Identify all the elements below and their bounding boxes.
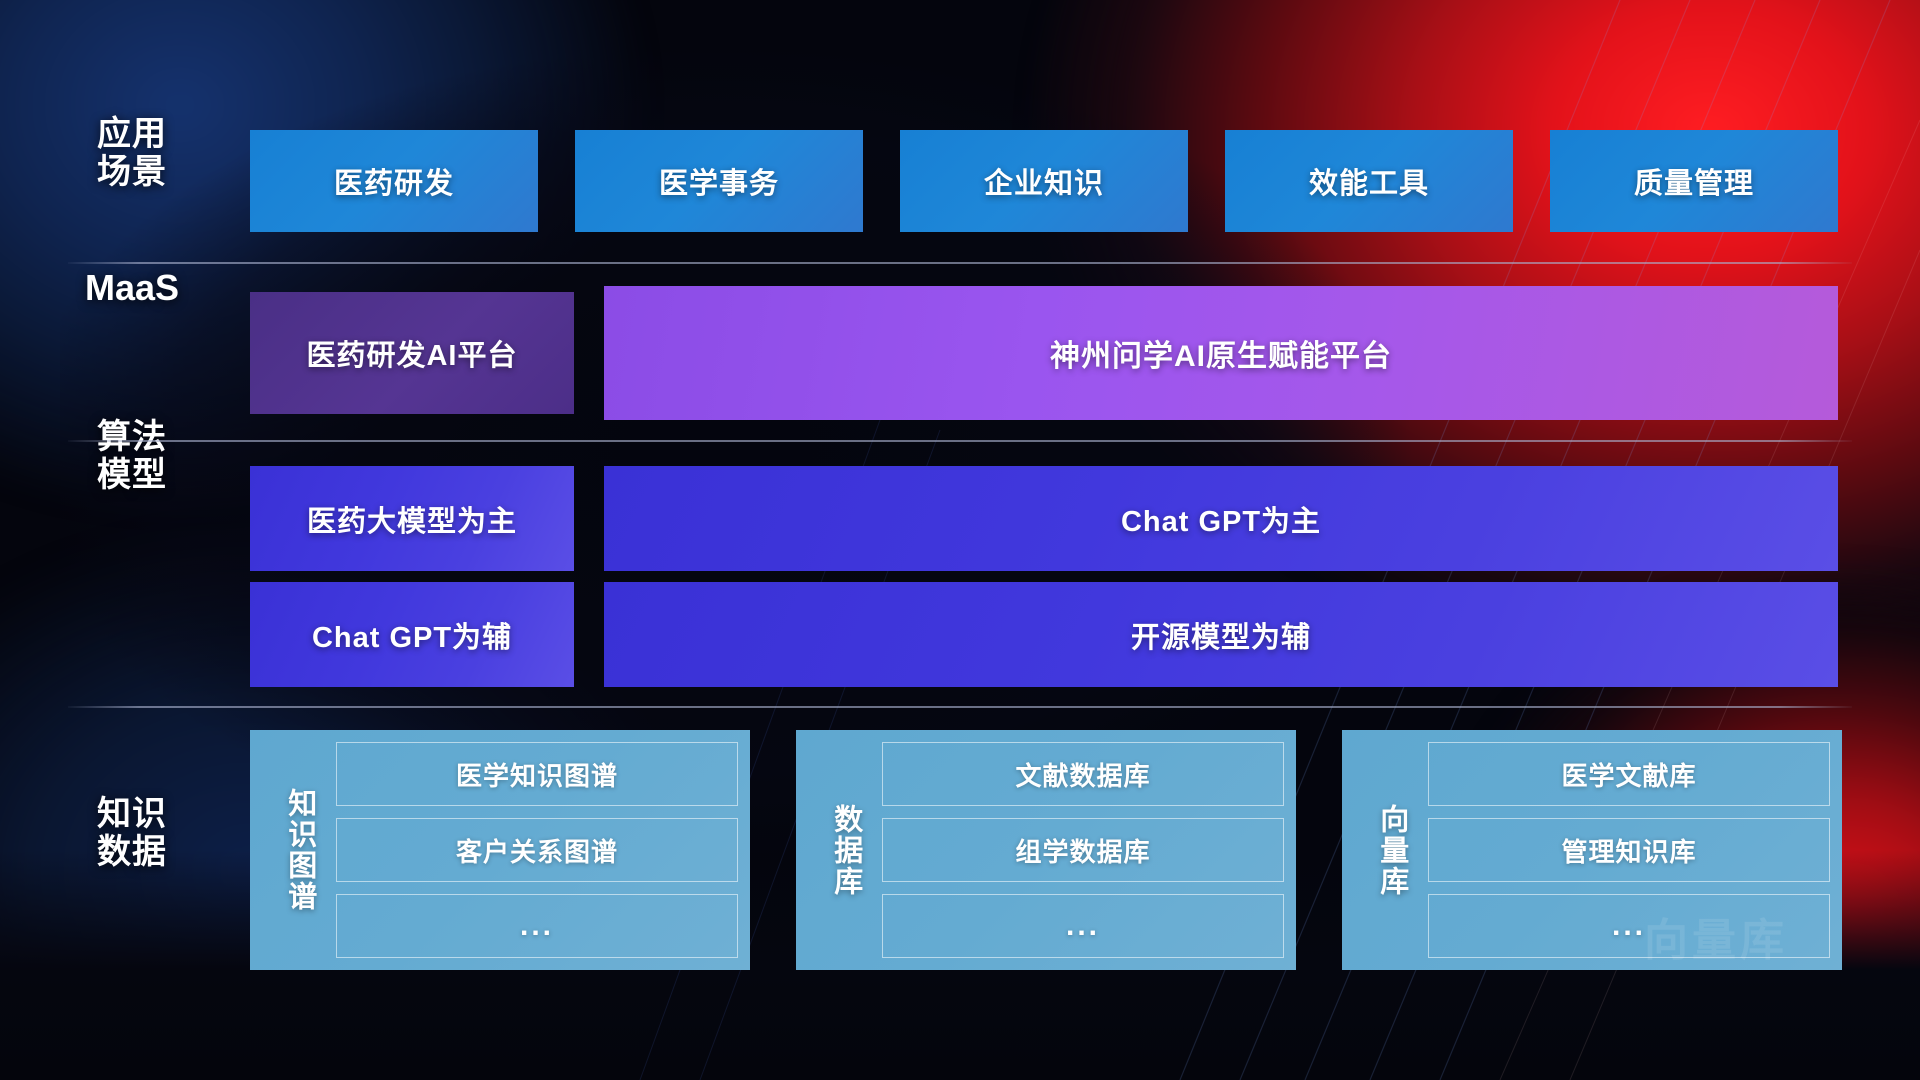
row-label-maas: MaaS [68, 268, 196, 308]
knowledge-item[interactable]: 组学数据库 [882, 818, 1284, 882]
app-scenario-box-5[interactable]: 质量管理 [1550, 130, 1838, 232]
row-label-algorithm-model: 算法 模型 [68, 418, 196, 494]
knowledge-card-items: 医学知识图谱 客户关系图谱 ... [336, 742, 738, 958]
knowledge-card-items: 文献数据库 组学数据库 ... [882, 742, 1284, 958]
knowledge-item-more[interactable]: ... [1428, 894, 1830, 958]
app-scenario-box-2[interactable]: 医学事务 [575, 130, 863, 232]
app-scenario-box-3[interactable]: 企业知识 [900, 130, 1188, 232]
divider-algorithm-knowledge [68, 706, 1852, 708]
maas-box-pharma-platform[interactable]: 医药研发AI平台 [250, 292, 574, 414]
knowledge-card-title: 知识图谱 [262, 742, 336, 958]
algo-box-chatgpt-primary[interactable]: Chat GPT为主 [604, 466, 1838, 571]
maas-box-shenzhou-platform[interactable]: 神州问学AI原生赋能平台 [604, 286, 1838, 420]
knowledge-card-vector-store[interactable]: 向量库 医学文献库 管理知识库 ... [1342, 730, 1842, 970]
knowledge-card-database[interactable]: 数据库 文献数据库 组学数据库 ... [796, 730, 1296, 970]
knowledge-item-more[interactable]: ... [336, 894, 738, 958]
algo-box-chatgpt-secondary[interactable]: Chat GPT为辅 [250, 582, 574, 687]
knowledge-item[interactable]: 医学文献库 [1428, 742, 1830, 806]
knowledge-card-items: 医学文献库 管理知识库 ... [1428, 742, 1830, 958]
knowledge-item[interactable]: 管理知识库 [1428, 818, 1830, 882]
row-label-application-scenarios: 应用 场景 [68, 115, 196, 191]
knowledge-item[interactable]: 客户关系图谱 [336, 818, 738, 882]
algo-box-opensource-secondary[interactable]: 开源模型为辅 [604, 582, 1838, 687]
row-label-knowledge-data: 知识 数据 [68, 795, 196, 871]
algo-box-pharma-llm-primary[interactable]: 医药大模型为主 [250, 466, 574, 571]
knowledge-card-title: 数据库 [808, 742, 882, 958]
knowledge-item-more[interactable]: ... [882, 894, 1284, 958]
diagram-stage: 应用 场景 MaaS 算法 模型 知识 数据 医药研发 医学事务 企业知识 效能… [0, 0, 1920, 1080]
knowledge-item[interactable]: 医学知识图谱 [336, 742, 738, 806]
divider-application-maas [68, 262, 1852, 264]
knowledge-item[interactable]: 文献数据库 [882, 742, 1284, 806]
app-scenario-box-1[interactable]: 医药研发 [250, 130, 538, 232]
knowledge-card-title: 向量库 [1354, 742, 1428, 958]
app-scenario-box-4[interactable]: 效能工具 [1225, 130, 1513, 232]
knowledge-card-knowledge-graph[interactable]: 知识图谱 医学知识图谱 客户关系图谱 ... [250, 730, 750, 970]
divider-maas-algorithm [68, 440, 1852, 442]
